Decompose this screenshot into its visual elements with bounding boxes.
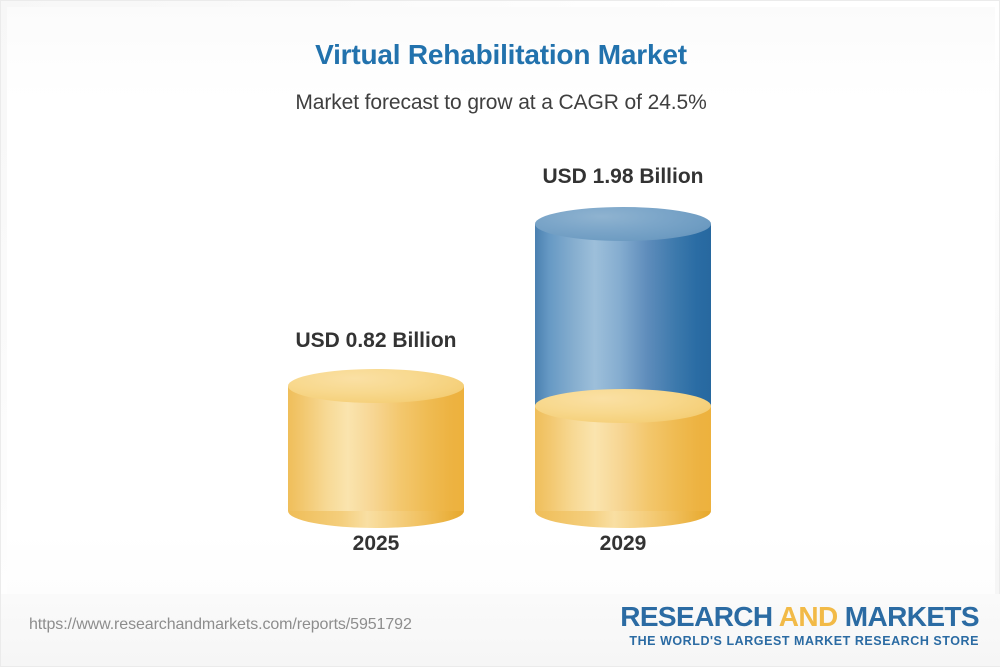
- report-url[interactable]: https://www.researchandmarkets.com/repor…: [29, 616, 412, 634]
- logo-markets-text: MARKETS: [838, 601, 979, 632]
- cylinder-body: [535, 224, 711, 406]
- logo-tagline: THE WORLD'S LARGEST MARKET RESEARCH STOR…: [620, 634, 979, 648]
- value-label-2025: USD 0.82 Billion: [275, 329, 477, 353]
- category-label-2029: 2029: [522, 532, 724, 556]
- cylinder-body: [288, 386, 464, 511]
- plot-area: USD 1.98 Billion USD 0.82 Billion: [1, 1, 1000, 601]
- chart-canvas: Virtual Rehabilitation Market Market for…: [0, 0, 1000, 667]
- logo-and-text: AND: [779, 601, 838, 632]
- value-label-2029: USD 1.98 Billion: [522, 165, 724, 189]
- bar-segment-yellow: [535, 406, 711, 511]
- bar-2029[interactable]: [535, 207, 711, 511]
- research-and-markets-logo[interactable]: RESEARCH AND MARKETS THE WORLD'S LARGEST…: [620, 602, 979, 648]
- logo-research-text: RESEARCH: [620, 601, 778, 632]
- cylinder-top-ellipse: [288, 369, 464, 403]
- bar-segment-blue: [535, 224, 711, 406]
- cylinder-top-ellipse: [535, 207, 711, 241]
- bar-segment-yellow: [288, 386, 464, 511]
- logo-wordmark: RESEARCH AND MARKETS: [620, 602, 979, 631]
- cylinder-divider-ellipse: [535, 389, 711, 423]
- category-label-2025: 2025: [275, 532, 477, 556]
- footer: https://www.researchandmarkets.com/repor…: [1, 594, 1000, 666]
- bar-2025[interactable]: [288, 369, 464, 511]
